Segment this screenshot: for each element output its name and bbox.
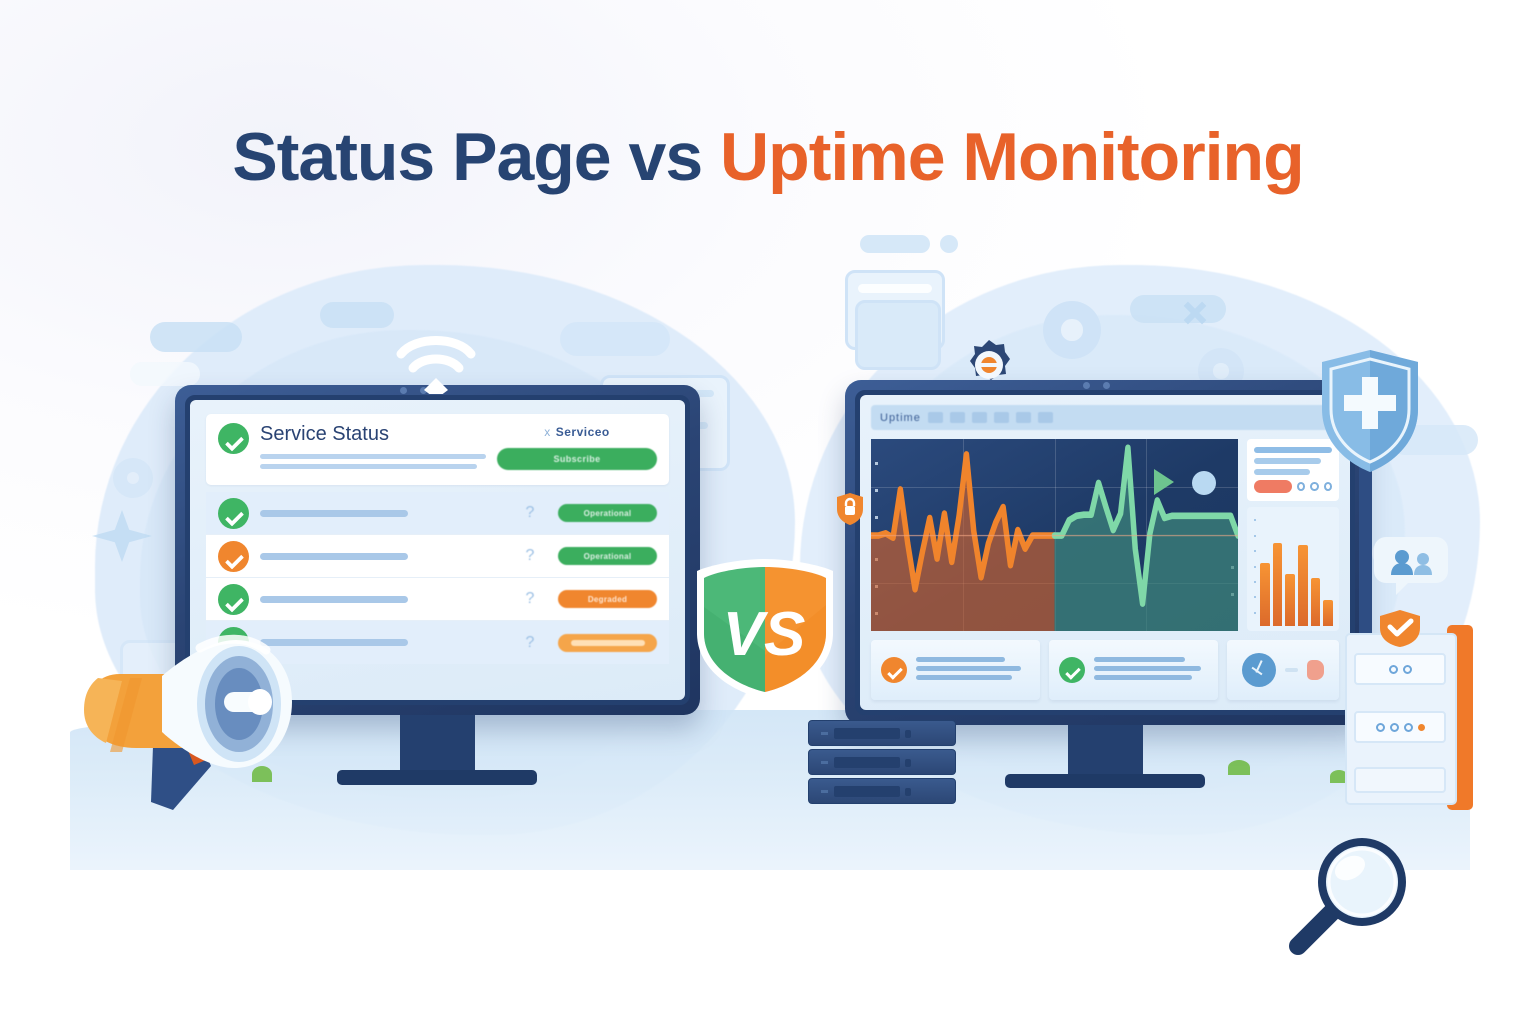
circle-marker <box>1192 471 1216 495</box>
status-page-brand: x Serviceo <box>497 425 657 439</box>
grass-tuft <box>1228 760 1250 775</box>
server-unit <box>808 749 956 775</box>
summary-card[interactable] <box>1227 640 1339 700</box>
shield-check-badge-icon <box>1378 608 1422 648</box>
rack-slot <box>1354 653 1446 685</box>
page-title-part1: Status Page vs <box>232 119 720 195</box>
status-page-header: Service Status x Serviceo Subscribe <box>206 414 669 485</box>
rack-slot <box>1354 711 1446 743</box>
monitor-neck <box>1068 725 1143 777</box>
phone-icon <box>1307 660 1324 680</box>
check-circle-icon <box>218 584 249 615</box>
server-unit <box>808 720 956 746</box>
check-circle-icon <box>218 423 249 454</box>
vs-badge: VS <box>690 555 840 703</box>
response-time-chart <box>871 439 1238 631</box>
server-unit <box>808 778 956 804</box>
dashboard-topbar-label: Uptime <box>880 412 921 424</box>
vs-badge-label: VS <box>723 600 806 669</box>
status-page-title: Service Status <box>260 424 486 445</box>
check-circle-icon <box>881 657 907 683</box>
incident-bar-chart <box>1247 507 1339 631</box>
chart-series-paths <box>871 439 1238 631</box>
bar-chart-bars <box>1260 517 1333 626</box>
row-meta: ? <box>513 504 547 522</box>
cloud-icon <box>130 362 200 386</box>
alert-pill <box>1254 480 1292 493</box>
illustration-scene: Service Status x Serviceo Subscribe <box>0 210 1536 910</box>
status-badge: Degraded <box>558 590 657 608</box>
row-meta: ? <box>513 590 547 608</box>
page-title-part2: Uptime Monitoring <box>720 119 1304 195</box>
megaphone-icon <box>58 618 318 813</box>
page-title: Status Page vs Uptime Monitoring <box>0 118 1536 196</box>
ring-icon <box>1310 482 1318 491</box>
brand-x: x <box>544 425 551 439</box>
shield-plus-icon <box>1318 347 1422 475</box>
service-name-bar <box>260 596 408 603</box>
monitor-neck <box>400 715 475 773</box>
check-circle-icon <box>218 541 249 572</box>
ring-icon <box>1297 482 1305 491</box>
background-bar <box>860 235 930 253</box>
gear-badge-icon <box>962 338 1016 392</box>
shield-pole <box>1359 450 1372 640</box>
dashboard-topbar: Uptime <box>871 405 1339 430</box>
monitor-indicator-dot <box>1103 382 1110 389</box>
rack-base-panel <box>1354 767 1446 793</box>
background-card <box>855 300 941 370</box>
status-badge-progress <box>558 634 657 652</box>
monitor-base <box>337 770 537 785</box>
server-stack-icon <box>808 720 968 810</box>
background-bar <box>858 284 932 293</box>
monitor-indicator-dot <box>1083 382 1090 389</box>
gauge-icon <box>1242 653 1276 687</box>
service-name-bar <box>260 553 408 560</box>
users-bubble-icon <box>1374 535 1448 597</box>
cloud-icon <box>560 322 670 356</box>
brand-word: Serviceo <box>556 425 610 439</box>
wifi-icon <box>395 332 477 394</box>
bar-chart-axis <box>1254 515 1256 625</box>
check-circle-icon <box>1059 657 1085 683</box>
gear-icon <box>120 465 146 491</box>
lock-badge-icon <box>836 492 864 526</box>
row-meta: ? <box>513 634 547 652</box>
monitor-base <box>1005 774 1205 788</box>
cloud-icon <box>150 322 242 352</box>
status-badge: Operational <box>558 547 657 565</box>
table-row[interactable]: ? Operational <box>206 535 669 578</box>
connector-line <box>1285 668 1298 672</box>
check-circle-icon <box>218 498 249 529</box>
cloud-icon <box>1130 295 1226 323</box>
uptime-monitoring-monitor: Uptime <box>845 380 1365 725</box>
table-row[interactable]: ? Operational <box>206 492 669 535</box>
row-meta: ? <box>513 547 547 565</box>
cloud-icon <box>320 302 394 328</box>
background-bar <box>940 235 958 253</box>
subscribe-button[interactable]: Subscribe <box>497 448 657 470</box>
play-triangle-marker <box>1154 469 1174 495</box>
uptime-dashboard-screen: Uptime <box>860 395 1350 710</box>
server-rack-icon <box>1345 625 1473 810</box>
magnifying-glass-icon <box>1288 828 1416 956</box>
gear-icon <box>1050 308 1094 352</box>
table-row[interactable]: ? Degraded <box>206 578 669 621</box>
service-name-bar <box>260 510 408 517</box>
summary-card[interactable] <box>1049 640 1218 700</box>
ring-icon <box>1324 482 1332 491</box>
header-placeholder-lines <box>260 454 486 469</box>
dashboard-summary-cards <box>871 640 1339 700</box>
summary-card[interactable] <box>871 640 1040 700</box>
status-badge: Operational <box>558 504 657 522</box>
